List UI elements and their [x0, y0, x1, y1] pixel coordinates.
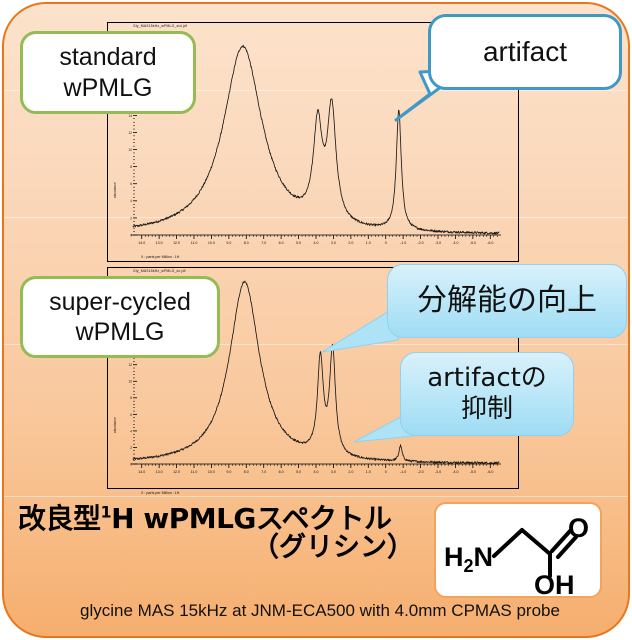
svg-text:-6.0: -6.0 — [487, 470, 493, 474]
svg-text:-2.0: -2.0 — [417, 241, 423, 245]
svg-text:0: 0 — [130, 233, 132, 237]
svg-text:6: 6 — [130, 413, 132, 417]
svg-text:-3.0: -3.0 — [435, 470, 441, 474]
callout-resolution[interactable]: 分解能の向上 — [387, 264, 627, 338]
svg-text:12: 12 — [128, 131, 132, 135]
svg-text:-4.0: -4.0 — [452, 470, 458, 474]
svg-text:9.0: 9.0 — [226, 241, 231, 245]
svg-text:-6.0: -6.0 — [487, 241, 493, 245]
svg-text:6.0: 6.0 — [279, 470, 284, 474]
page-title-text-b: H wPMLGスペクトル — [111, 502, 391, 535]
svg-text:-4.0: -4.0 — [452, 241, 458, 245]
svg-text:2: 2 — [130, 446, 132, 450]
svg-text:-2.0: -2.0 — [417, 470, 423, 474]
svg-text:5.0: 5.0 — [296, 241, 301, 245]
callout-suppression-line1: artifactの — [427, 363, 547, 394]
glycine-structure-icon: H2N O OH — [436, 504, 600, 596]
svg-text:0: 0 — [385, 241, 387, 245]
svg-text:2: 2 — [130, 216, 132, 220]
callout-supercycled-line1: super-cycled — [49, 287, 191, 318]
svg-text:13.0: 13.0 — [156, 241, 163, 245]
svg-text:2.0: 2.0 — [348, 470, 353, 474]
svg-text:-1.0: -1.0 — [400, 241, 406, 245]
svg-text:13.0: 13.0 — [156, 470, 163, 474]
slide-card: Gly_MAS15kHz_wPMLG_std.jdf abundance 14.… — [2, 2, 630, 638]
svg-text:10.0: 10.0 — [208, 470, 215, 474]
svg-text:12.0: 12.0 — [173, 241, 180, 245]
page-title: 改良型1H wPMLGスペクトル （グリシン） — [18, 504, 436, 563]
slide-caption: glycine MAS 15kHz at JNM-ECA500 with 4.0… — [4, 601, 630, 621]
svg-text:7.0: 7.0 — [261, 470, 266, 474]
callout-suppression[interactable]: artifactの 抑制 — [400, 352, 574, 436]
page-title-superscript: 1 — [101, 503, 112, 522]
svg-text:8: 8 — [130, 396, 132, 400]
callout-standard-line1: standard — [59, 42, 156, 73]
svg-text:3.0: 3.0 — [331, 241, 336, 245]
callout-artifact-label: artifact — [483, 36, 567, 68]
callout-standard-wpmlg[interactable]: standard wPMLG — [20, 31, 196, 114]
svg-text:0: 0 — [385, 470, 387, 474]
svg-text:5.0: 5.0 — [296, 470, 301, 474]
svg-text:-3.0: -3.0 — [435, 241, 441, 245]
chart-x-unit-top: X : parts per Million : 1H — [141, 255, 179, 259]
svg-text:8.0: 8.0 — [244, 470, 249, 474]
svg-text:14.0: 14.0 — [138, 470, 145, 474]
svg-text:10.0: 10.0 — [208, 241, 215, 245]
svg-text:12.0: 12.0 — [173, 470, 180, 474]
svg-text:4.0: 4.0 — [314, 470, 319, 474]
chart-x-unit-bottom: X : parts per Million : 1H — [141, 491, 179, 495]
slide-root: Gly_MAS15kHz_wPMLG_std.jdf abundance 14.… — [0, 0, 632, 640]
svg-text:11.0: 11.0 — [191, 241, 198, 245]
svg-text:8: 8 — [130, 165, 132, 169]
callout-suppression-line2: 抑制 — [461, 394, 513, 425]
svg-text:9.0: 9.0 — [226, 470, 231, 474]
svg-text:6.0: 6.0 — [279, 241, 284, 245]
svg-text:-5.0: -5.0 — [470, 470, 476, 474]
background-band — [4, 496, 628, 497]
svg-text:3.0: 3.0 — [331, 470, 336, 474]
svg-text:4: 4 — [130, 199, 132, 203]
svg-text:1.0: 1.0 — [366, 470, 371, 474]
glycine-carbonyl-oxygen-label: O — [568, 513, 589, 543]
svg-text:4: 4 — [130, 429, 132, 433]
svg-text:2.0: 2.0 — [348, 241, 353, 245]
page-title-text-a: 改良型 — [18, 502, 101, 535]
callout-super-cycled-wpmlg[interactable]: super-cycled wPMLG — [20, 276, 220, 358]
svg-text:12: 12 — [128, 363, 132, 367]
svg-text:8.0: 8.0 — [244, 241, 249, 245]
page-title-line1: 改良型1H wPMLGスペクトル — [18, 504, 436, 533]
callout-resolution-label: 分解能の向上 — [417, 283, 597, 319]
svg-text:7.0: 7.0 — [261, 241, 266, 245]
page-title-line2: （グリシン） — [18, 533, 436, 563]
glycine-hydroxyl-label: OH — [534, 570, 575, 596]
callout-standard-line2: wPMLG — [64, 73, 153, 104]
svg-text:14: 14 — [128, 114, 132, 118]
svg-text:6: 6 — [130, 182, 132, 186]
svg-text:11.0: 11.0 — [191, 470, 198, 474]
svg-text:-5.0: -5.0 — [470, 241, 476, 245]
svg-text:4.0: 4.0 — [314, 241, 319, 245]
callout-supercycled-line2: wPMLG — [76, 317, 165, 348]
glycine-amine-label: H2N — [444, 542, 493, 576]
glycine-structure-box: H2N O OH — [434, 502, 602, 598]
svg-text:10: 10 — [128, 148, 132, 152]
svg-text:1.0: 1.0 — [366, 241, 371, 245]
svg-text:-1.0: -1.0 — [400, 470, 406, 474]
svg-text:10: 10 — [128, 380, 132, 384]
callout-artifact[interactable]: artifact — [428, 14, 622, 90]
svg-text:0: 0 — [130, 462, 132, 466]
svg-text:14.0: 14.0 — [138, 241, 145, 245]
